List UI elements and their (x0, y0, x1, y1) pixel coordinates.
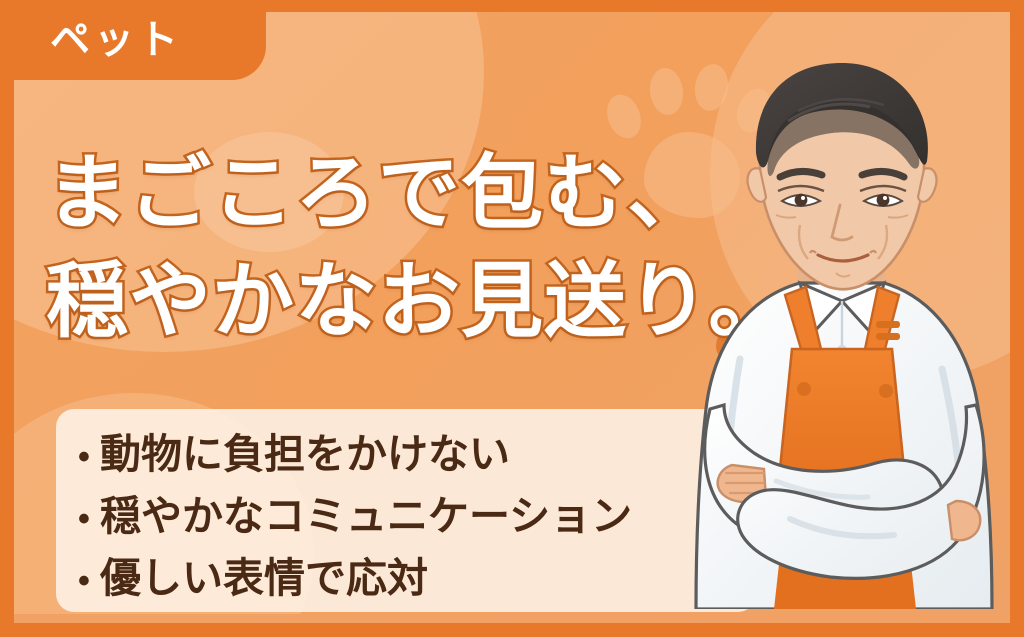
feature-bullet-list: • 動物に負担をかけない • 穏やかなコミュニケーション • 優しい表情で応対 (56, 409, 756, 611)
bullet-text: 優しい表情で応対 (100, 549, 428, 608)
list-item: • 優しい表情で応対 (78, 549, 756, 611)
pet-service-banner: まごころで包む、 穏やかなお見送り。 • 動物に負担をかけない • 穏やかなコミ… (0, 0, 1024, 637)
paw-toe-1 (601, 90, 646, 143)
list-item: • 穏やかなコミュニケーション (78, 487, 756, 549)
feature-bullet-panel: • 動物に負担をかけない • 穏やかなコミュニケーション • 優しい表情で応対 (56, 409, 756, 612)
staff-illustration (680, 49, 1010, 609)
bottom-accent-band (14, 614, 1010, 623)
bullet-text: 動物に負担をかけない (100, 425, 510, 484)
banner-inner-panel: まごころで包む、 穏やかなお見送り。 • 動物に負担をかけない • 穏やかなコミ… (14, 12, 1010, 623)
category-tab[interactable]: ペット (0, 0, 266, 80)
bullet-text: 穏やかなコミュニケーション (100, 487, 632, 546)
category-tab-label: ペット (50, 20, 182, 60)
bullet-marker-icon: • (78, 490, 100, 549)
bullet-marker-icon: • (78, 428, 100, 487)
bullet-marker-icon: • (78, 552, 100, 611)
list-item: • 動物に負担をかけない (78, 425, 756, 487)
